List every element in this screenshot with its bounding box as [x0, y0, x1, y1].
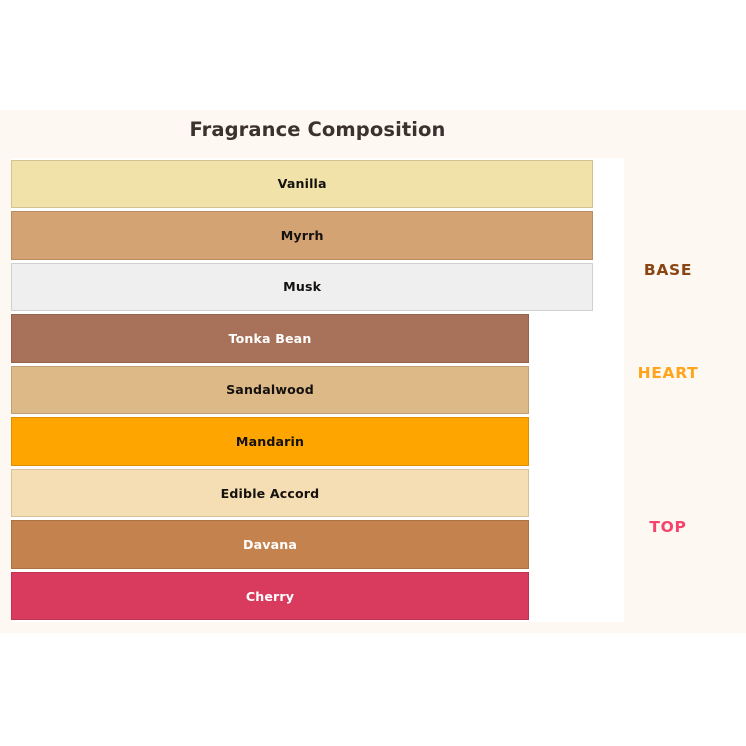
group-label-heart: HEART — [638, 364, 699, 382]
bar-myrrh[interactable]: Myrrh — [11, 210, 593, 262]
chart-title: Fragrance Composition — [0, 118, 635, 141]
bar-musk[interactable]: Musk — [11, 261, 593, 313]
bar-rect — [11, 572, 529, 620]
bar-tonka-bean[interactable]: Tonka Bean — [11, 313, 529, 365]
bar-vanilla[interactable]: Vanilla — [11, 158, 593, 210]
bar-rect — [11, 520, 529, 568]
bar-rect — [11, 160, 593, 208]
group-label-base: BASE — [644, 261, 692, 279]
bar-edible-accord[interactable]: Edible Accord — [11, 467, 529, 519]
bar-rect — [11, 314, 529, 362]
bar-rect — [11, 366, 529, 414]
bar-rect — [11, 417, 529, 465]
bar-rect — [11, 469, 529, 517]
group-label-top: TOP — [649, 518, 686, 536]
plot-area: VanillaMyrrhMuskTonka BeanSandalwoodMand… — [11, 158, 624, 622]
bar-rect — [11, 211, 593, 259]
bar-rect — [11, 263, 593, 311]
bar-sandalwood[interactable]: Sandalwood — [11, 364, 529, 416]
chart-figure: Fragrance Composition VanillaMyrrhMuskTo… — [0, 110, 746, 633]
bar-davana[interactable]: Davana — [11, 519, 529, 571]
bar-cherry[interactable]: Cherry — [11, 570, 529, 622]
bar-mandarin[interactable]: Mandarin — [11, 416, 529, 468]
